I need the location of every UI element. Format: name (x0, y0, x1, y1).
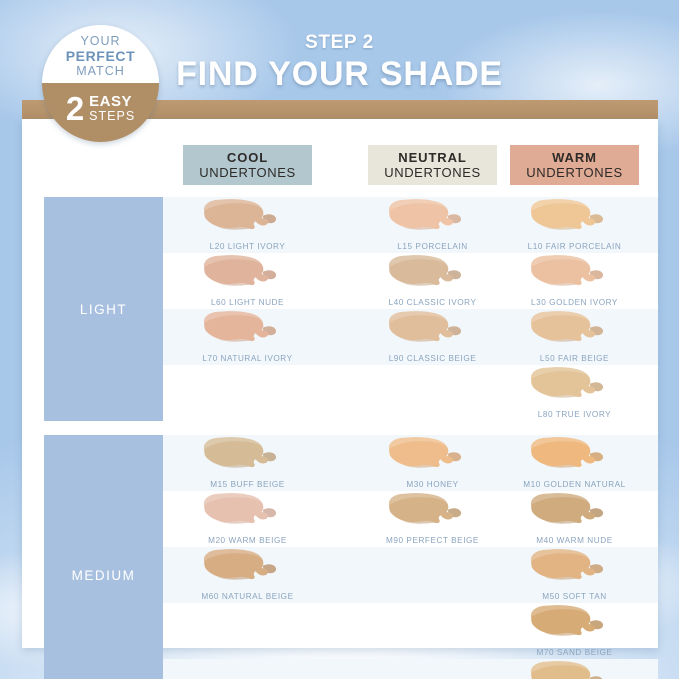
undertone-neutral-subtitle: UNDERTONES (384, 165, 481, 181)
shade-name-label: L70 NATURAL IVORY (183, 354, 312, 363)
shade-name-label: L90 CLASSIC BEIGE (368, 354, 497, 363)
shade-name-label: M90 PERFECT BEIGE (368, 536, 497, 545)
badge-steps-text: EASY STEPS (89, 94, 135, 123)
badge-line-perfect: PERFECT (66, 48, 136, 64)
undertone-neutral-title: NEUTRAL (398, 150, 466, 165)
badge-line-easy: EASY (89, 94, 132, 109)
shade-name-label: L15 PORCELAIN (368, 242, 497, 251)
shade-name-label: M40 WARM NUDE (510, 536, 639, 545)
shade-cell[interactable]: M15 BUFF BEIGE (183, 435, 312, 491)
shade-swatch-icon (197, 309, 283, 345)
undertone-header-row: COOL UNDERTONES NEUTRAL UNDERTONES WARM … (22, 145, 658, 185)
group-label-medium: MEDIUM (44, 435, 163, 679)
undertone-header-cool: COOL UNDERTONES (183, 145, 312, 185)
shade-swatch-icon (382, 491, 468, 527)
shade-finder-card: COOL UNDERTONES NEUTRAL UNDERTONES WARM … (22, 119, 658, 648)
shade-cell[interactable]: L50 FAIR BEIGE (510, 309, 639, 365)
shade-cell[interactable]: M30 HONEY (368, 435, 497, 491)
shade-name-label: L60 LIGHT NUDE (183, 298, 312, 307)
shade-name-label: L50 FAIR BEIGE (510, 354, 639, 363)
shade-swatch-icon (524, 435, 610, 471)
shade-name-label: M20 WARM BEIGE (183, 536, 312, 545)
shade-cell[interactable]: L90 CLASSIC BEIGE (368, 309, 497, 365)
shade-cell[interactable]: L10 FAIR PORCELAIN (510, 197, 639, 253)
shade-swatch-icon (524, 197, 610, 233)
shade-swatch-icon (197, 253, 283, 289)
shade-swatch-icon (524, 365, 610, 401)
shade-cell[interactable]: L15 PORCELAIN (368, 197, 497, 253)
shade-cell[interactable]: L30 GOLDEN IVORY (510, 253, 639, 309)
shade-swatch-icon (524, 309, 610, 345)
shade-name-label: L40 CLASSIC IVORY (368, 298, 497, 307)
shade-swatch-icon (382, 435, 468, 471)
shade-swatch-icon (197, 491, 283, 527)
shade-swatch-icon (524, 659, 610, 679)
shade-cell[interactable]: L40 CLASSIC IVORY (368, 253, 497, 309)
shade-swatch-icon (524, 547, 610, 583)
undertone-warm-subtitle: UNDERTONES (526, 165, 623, 181)
shade-name-label: M60 NATURAL BEIGE (183, 592, 312, 601)
shade-cell[interactable]: M70 SAND BEIGE (510, 603, 639, 659)
shade-swatch-icon (524, 491, 610, 527)
shade-cell[interactable]: L80 TRUE IVORY (510, 365, 639, 421)
shade-cell[interactable]: M60 NATURAL BEIGE (183, 547, 312, 603)
group-label-light: LIGHT (44, 197, 163, 421)
shade-name-label: M50 SOFT TAN (510, 592, 639, 601)
shade-cell[interactable]: L60 LIGHT NUDE (183, 253, 312, 309)
shade-name-label: M15 BUFF BEIGE (183, 480, 312, 489)
undertone-header-neutral: NEUTRAL UNDERTONES (368, 145, 497, 185)
shade-name-label: L10 FAIR PORCELAIN (510, 242, 639, 251)
shade-name-label: M30 HONEY (368, 480, 497, 489)
shade-name-label: L20 LIGHT IVORY (183, 242, 312, 251)
shade-name-label: L80 TRUE IVORY (510, 410, 639, 419)
badge-line-match: MATCH (76, 64, 125, 79)
badge-bottom-half: 2 EASY STEPS (42, 83, 159, 142)
undertone-cool-title: COOL (227, 150, 268, 165)
shade-swatch-icon (524, 253, 610, 289)
badge-line-steps: STEPS (89, 109, 135, 123)
shade-cell[interactable]: M90 PERFECT BEIGE (368, 491, 497, 547)
group-label-text: LIGHT (80, 302, 127, 317)
shade-cell[interactable]: L20 LIGHT IVORY (183, 197, 312, 253)
undertone-header-warm: WARM UNDERTONES (510, 145, 639, 185)
shade-swatch-icon (197, 435, 283, 471)
shade-name-label: M70 SAND BEIGE (510, 648, 639, 657)
shade-cell[interactable]: M10 GOLDEN NATURAL (510, 435, 639, 491)
badge-top-half: YOUR PERFECT MATCH (42, 25, 159, 83)
shade-cell[interactable]: L70 NATURAL IVORY (183, 309, 312, 365)
shade-swatch-icon (197, 547, 283, 583)
undertone-warm-title: WARM (552, 150, 597, 165)
shade-cell[interactable]: M40 WARM NUDE (510, 491, 639, 547)
undertone-cool-subtitle: UNDERTONES (199, 165, 296, 181)
perfect-match-badge: YOUR PERFECT MATCH 2 EASY STEPS (42, 25, 159, 142)
shade-swatch-icon (197, 197, 283, 233)
shade-cell[interactable]: M20 WARM BEIGE (183, 491, 312, 547)
shade-name-label: M10 GOLDEN NATURAL (510, 480, 639, 489)
shade-cell[interactable]: M80 CARAMEL BEIGE (510, 659, 639, 679)
shade-cell[interactable]: M50 SOFT TAN (510, 547, 639, 603)
shade-name-label: L30 GOLDEN IVORY (510, 298, 639, 307)
shade-swatch-icon (382, 253, 468, 289)
shade-swatch-icon (524, 603, 610, 639)
shade-swatch-icon (382, 197, 468, 233)
badge-line-your: YOUR (80, 34, 120, 48)
shade-swatch-icon (382, 309, 468, 345)
group-label-text: MEDIUM (72, 568, 136, 583)
badge-step-number: 2 (66, 94, 84, 124)
shade-grid: LIGHTMEDIUML20 LIGHT IVORYL60 LIGHT NUDE… (22, 197, 658, 637)
